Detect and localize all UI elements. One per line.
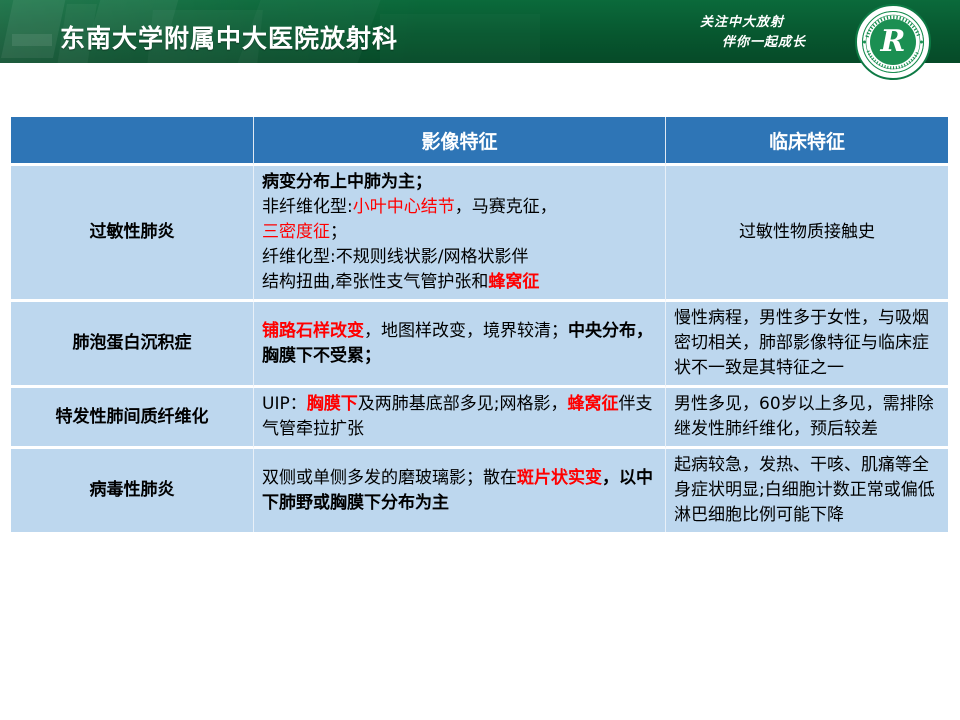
column-header-disease <box>11 117 254 166</box>
clinical-features-cell: 过敏性物质接触史 <box>666 166 948 302</box>
imaging-highlight: 铺路石样改变 <box>262 321 364 341</box>
banner-watermark-shape <box>12 34 52 46</box>
table-row: 肺泡蛋白沉积症 铺路石样改变，地图样改变，境界较清；中央分布，胸膜下不受累； 慢… <box>11 302 948 388</box>
imaging-highlight: 蜂窝征 <box>567 394 618 414</box>
imaging-line-4: 纤维化型:不规则线状影/网格状影伴 <box>262 245 657 270</box>
clinical-features-cell: 男性多见，60岁以上多见，需排除继发性肺纤维化，预后较差 <box>666 388 948 449</box>
imaging-text: ，地图样改变，境界较清； <box>364 321 568 341</box>
imaging-features-cell: UIP：胸膜下及两肺基底部多见;网格影，蜂窝征伴支气管牵拉扩张 <box>254 388 666 449</box>
logo-monogram-disc: R <box>870 19 916 65</box>
imaging-text: 双侧或单侧多发的磨玻璃影；散在 <box>262 468 517 488</box>
imaging-text: ，马赛克征， <box>455 197 557 217</box>
imaging-text: UIP： <box>262 394 307 414</box>
imaging-line-5: 结构扭曲,牵张性支气管护张和蜂窝征 <box>262 270 657 295</box>
column-header-imaging-features: 影像特征 <box>254 117 666 166</box>
imaging-features-cell: 双侧或单侧多发的磨玻璃影；散在斑片状实变，以中下肺野或胸膜下分布为主 <box>254 449 666 532</box>
imaging-text: 结构扭曲,牵张性支气管护张和 <box>262 272 488 292</box>
imaging-features-cell: 病变分布上中肺为主； 非纤维化型:小叶中心结节，马赛克征， 三密度征； 纤维化型… <box>254 166 666 302</box>
hospital-radiology-logo-icon: R <box>855 4 931 80</box>
table-row: 特发性肺间质纤维化 UIP：胸膜下及两肺基底部多见;网格影，蜂窝征伴支气管牵拉扩… <box>11 388 948 449</box>
imaging-features-cell: 铺路石样改变，地图样改变，境界较清；中央分布，胸膜下不受累； <box>254 302 666 388</box>
clinical-features-cell: 慢性病程，男性多于女性，与吸烟密切相关，肺部影像特征与临床症状不一致是其特征之一 <box>666 302 948 388</box>
imaging-highlight: 胸膜下 <box>307 394 358 414</box>
disease-name-cell: 过敏性肺炎 <box>11 166 254 302</box>
disease-name-cell: 特发性肺间质纤维化 <box>11 388 254 449</box>
banner-slogan-line2: 伴你一起成长 <box>700 33 806 53</box>
disease-name-cell: 肺泡蛋白沉积症 <box>11 302 254 388</box>
banner-watermark-shape <box>1 0 67 58</box>
table-row: 过敏性肺炎 病变分布上中肺为主； 非纤维化型:小叶中心结节，马赛克征， 三密度征… <box>11 166 948 302</box>
imaging-text: 及两肺基底部多见;网格影， <box>358 394 568 414</box>
imaging-line-3: 三密度征； <box>262 220 657 245</box>
clinical-features-cell: 起病较急，发热、干咳、肌痛等全身症状明显;白细胞计数正常或偏低淋巴细胞比例可能下… <box>666 449 948 532</box>
imaging-highlight: 蜂窝征 <box>488 272 539 292</box>
table-row: 病毒性肺炎 双侧或单侧多发的磨玻璃影；散在斑片状实变，以中下肺野或胸膜下分布为主… <box>11 449 948 532</box>
logo-monogram-letter: R <box>870 19 916 65</box>
imaging-highlight: 小叶中心结节 <box>353 197 455 217</box>
imaging-text: ； <box>330 222 347 242</box>
imaging-highlight: 三密度征 <box>262 222 330 242</box>
feature-comparison-table-wrap: 影像特征 临床特征 过敏性肺炎 病变分布上中肺为主； 非纤维化型:小叶中心结节，… <box>11 117 948 674</box>
banner-title: 东南大学附属中大医院放射科 <box>60 19 398 55</box>
table-header-row: 影像特征 临床特征 <box>11 117 948 166</box>
disease-name-cell: 病毒性肺炎 <box>11 449 254 532</box>
imaging-line-2: 非纤维化型:小叶中心结节，马赛克征， <box>262 195 657 220</box>
imaging-highlight: 斑片状实变 <box>517 468 602 488</box>
banner-watermark-shape <box>380 14 540 63</box>
banner-slogan-line1: 关注中大放射 <box>700 15 784 30</box>
feature-comparison-table: 影像特征 临床特征 过敏性肺炎 病变分布上中肺为主； 非纤维化型:小叶中心结节，… <box>11 117 948 532</box>
page-banner: 东南大学附属中大医院放射科 关注中大放射 伴你一起成长 R <box>0 0 960 63</box>
imaging-line-1: 病变分布上中肺为主； <box>262 170 657 195</box>
imaging-text: 非纤维化型: <box>262 197 353 217</box>
banner-slogan: 关注中大放射 伴你一起成长 <box>700 13 806 53</box>
column-header-clinical-features: 临床特征 <box>666 117 948 166</box>
